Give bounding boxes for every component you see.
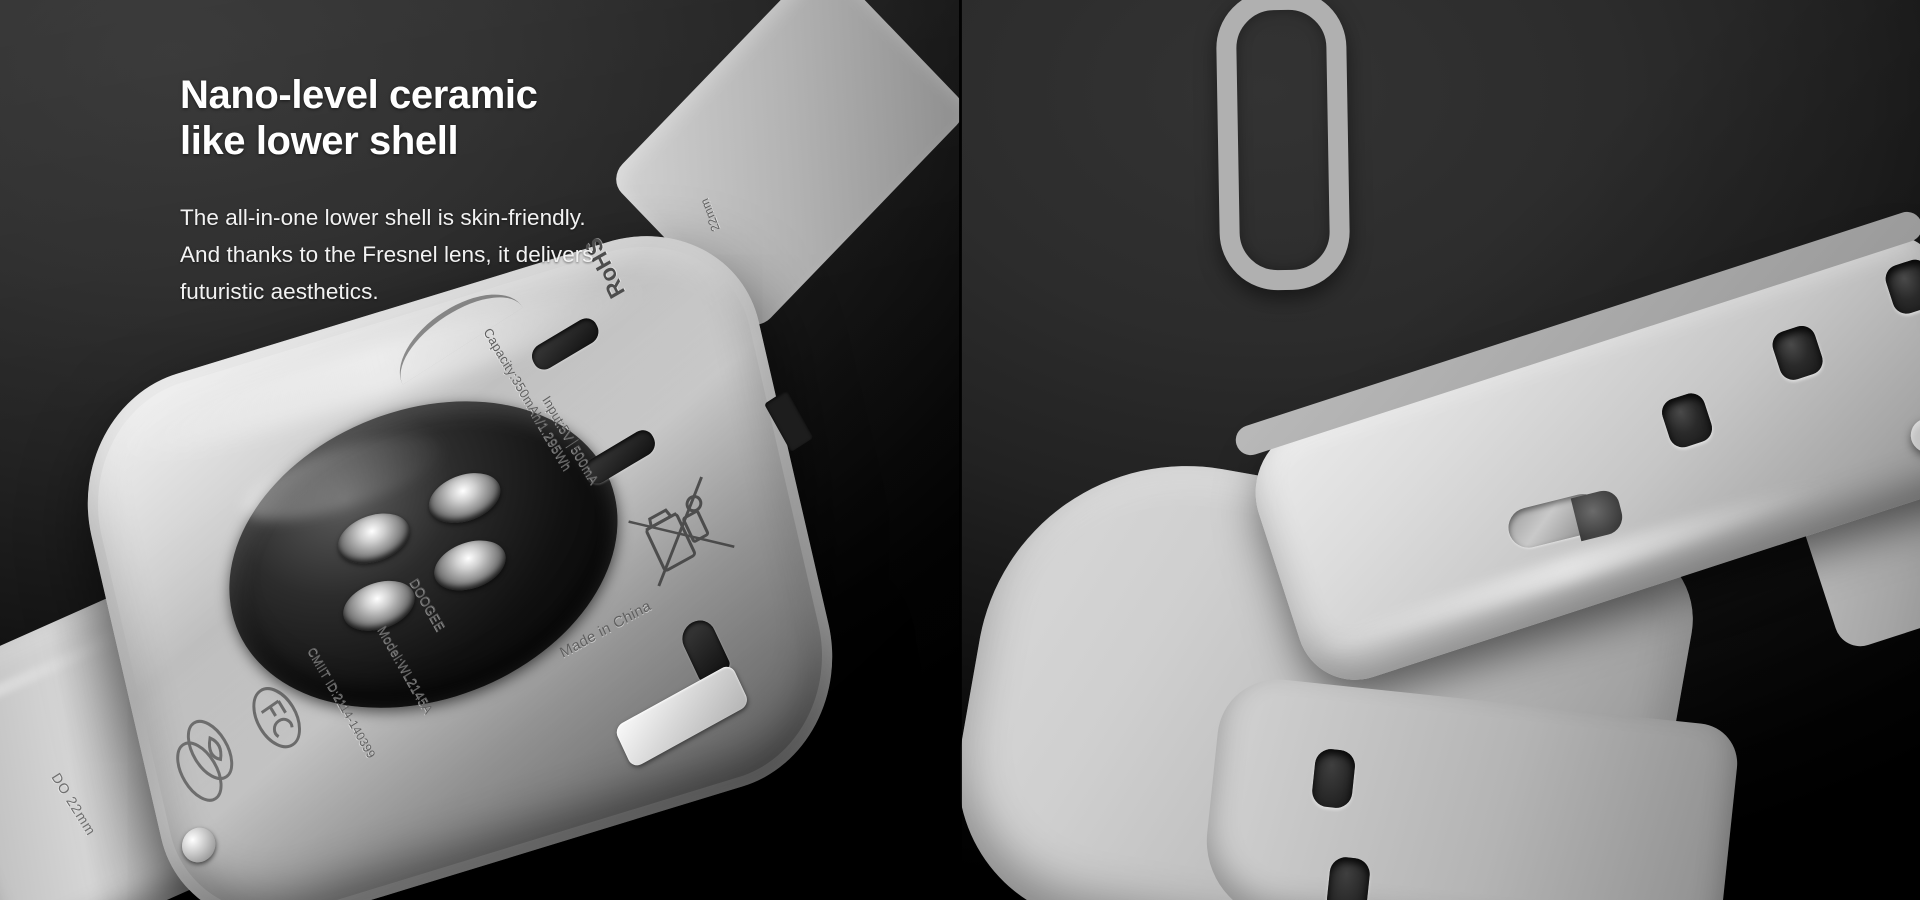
panel-copy-left: Nano-level ceramic like lower shell The … <box>180 72 880 311</box>
feature-panels-stage: DO 22mm RoHS Capacity:350mAh/1 <box>0 0 1920 900</box>
strap-keeper-slot <box>1504 490 1607 552</box>
strap-hole <box>1769 322 1826 383</box>
silicone-strap-product-image <box>960 0 1920 900</box>
fresnel-lens-element <box>424 465 505 532</box>
strap-hole <box>1325 856 1371 900</box>
strap-hole <box>1882 256 1920 317</box>
panel-body-text: The all-in-one lower shell is skin-frien… <box>180 199 880 311</box>
panel-antibacterial-silicone-strap: Antibacterial liquid silicone strap Th l… <box>960 0 1920 900</box>
strap-buckle-frame <box>1215 0 1350 291</box>
buckle-tang <box>1910 401 1920 453</box>
panel-nano-ceramic-lower-shell: DO 22mm RoHS Capacity:350mAh/1 <box>0 0 960 900</box>
strap-hole <box>1311 748 1357 810</box>
strap-hole <box>1658 390 1715 451</box>
fresnel-lens-element <box>429 532 510 599</box>
panel-divider <box>959 0 962 900</box>
panel-headline: Nano-level ceramic like lower shell <box>180 72 880 165</box>
fresnel-lens-element <box>333 505 414 572</box>
